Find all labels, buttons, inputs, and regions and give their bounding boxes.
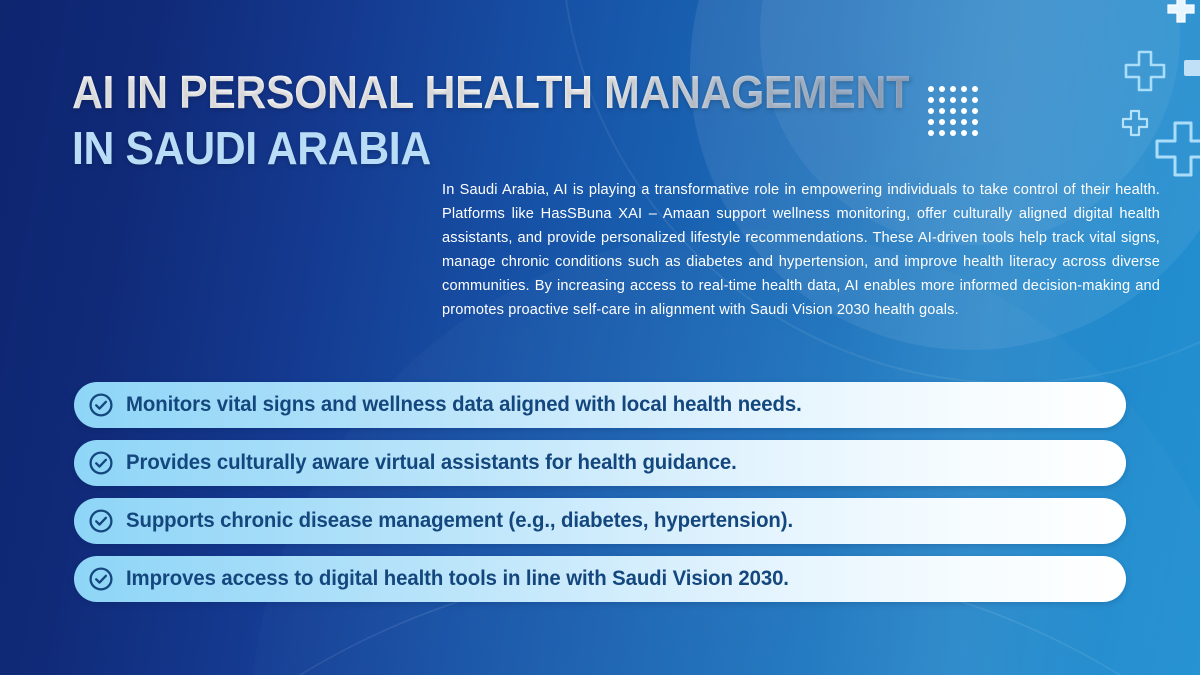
medical-cross-icon: [1122, 48, 1168, 94]
bullet-pill-label: Improves access to digital health tools …: [126, 567, 789, 591]
bullet-pill-label: Supports chronic disease management (e.g…: [126, 509, 793, 533]
medical-cross-icon: [1166, 0, 1196, 24]
check-circle-icon: [88, 392, 114, 418]
title-line-secondary: IN SAUDI ARABIA: [72, 120, 909, 176]
grid-dot: [972, 119, 978, 125]
bullet-pill-label: Monitors vital signs and wellness data a…: [126, 393, 802, 417]
bullet-pill-label: Provides culturally aware virtual assist…: [126, 451, 737, 475]
body-paragraph: In Saudi Arabia, AI is playing a transfo…: [442, 178, 1160, 322]
check-circle-icon: [88, 566, 114, 592]
grid-dot: [972, 108, 978, 114]
medical-cross-icon: [1120, 108, 1150, 138]
title-line-primary: AI IN PERSONAL HEALTH MANAGEMENT: [72, 64, 909, 120]
bullet-pill[interactable]: Monitors vital signs and wellness data a…: [74, 382, 1126, 428]
bullet-pill-list: Monitors vital signs and wellness data a…: [74, 382, 1126, 602]
check-circle-icon: [88, 508, 114, 534]
bullet-pill[interactable]: Improves access to digital health tools …: [74, 556, 1126, 602]
bullet-pill[interactable]: Supports chronic disease management (e.g…: [74, 498, 1126, 544]
page-title: AI IN PERSONAL HEALTH MANAGEMENT IN SAUD…: [72, 64, 972, 176]
decor-bar: [1184, 60, 1200, 76]
check-circle-icon: [88, 450, 114, 476]
medical-cross-icon: [1152, 118, 1200, 180]
grid-dot: [972, 86, 978, 92]
grid-dot: [972, 130, 978, 136]
slide-canvas: AI IN PERSONAL HEALTH MANAGEMENT IN SAUD…: [0, 0, 1200, 675]
grid-dot: [972, 97, 978, 103]
bullet-pill[interactable]: Provides culturally aware virtual assist…: [74, 440, 1126, 486]
